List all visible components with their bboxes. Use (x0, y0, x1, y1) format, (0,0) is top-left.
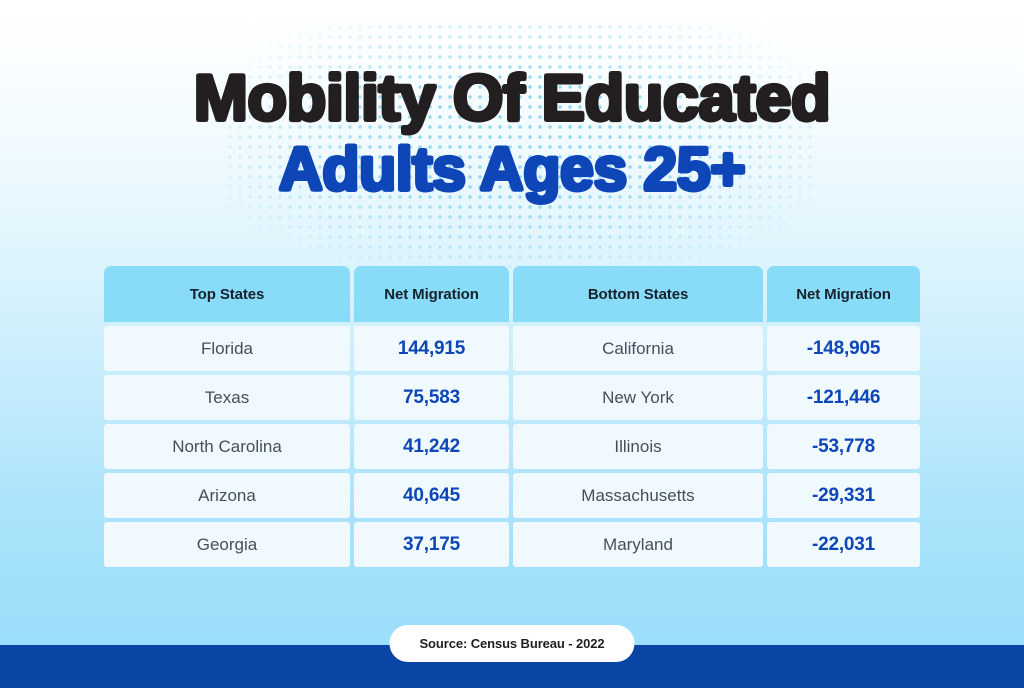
cell-bottom-value: -121,446 (767, 375, 920, 420)
cell-bottom-state: Massachusetts (513, 473, 763, 518)
table-row: Florida 144,915 California -148,905 (104, 326, 920, 371)
cell-top-value: 41,242 (354, 424, 509, 469)
cell-top-value: 40,645 (354, 473, 509, 518)
cell-top-state: Georgia (104, 522, 350, 567)
infographic-poster: Mobility Of Educated Adults Ages 25+ Top… (0, 0, 1024, 688)
cell-bottom-state: California (513, 326, 763, 371)
table-row: North Carolina 41,242 Illinois -53,778 (104, 424, 920, 469)
cell-top-value: 37,175 (354, 522, 509, 567)
table-header-row: Top States Net Migration Bottom States N… (104, 266, 920, 322)
cell-bottom-value: -53,778 (767, 424, 920, 469)
title-line-1: Mobility Of Educated (0, 66, 1024, 130)
page-title: Mobility Of Educated Adults Ages 25+ (0, 66, 1024, 199)
column-header-top-net-migration: Net Migration (354, 266, 509, 322)
column-header-bottom-net-migration: Net Migration (767, 266, 920, 322)
table-row: Arizona 40,645 Massachusetts -29,331 (104, 473, 920, 518)
table-row: Georgia 37,175 Maryland -22,031 (104, 522, 920, 567)
cell-top-state: Florida (104, 326, 350, 371)
cell-bottom-state: New York (513, 375, 763, 420)
cell-bottom-state: Illinois (513, 424, 763, 469)
cell-top-state: Texas (104, 375, 350, 420)
column-header-bottom-states: Bottom States (513, 266, 763, 322)
cell-top-state: Arizona (104, 473, 350, 518)
table-row: Texas 75,583 New York -121,446 (104, 375, 920, 420)
cell-bottom-value: -22,031 (767, 522, 920, 567)
cell-top-state: North Carolina (104, 424, 350, 469)
cell-bottom-state: Maryland (513, 522, 763, 567)
migration-table: Top States Net Migration Bottom States N… (104, 266, 920, 571)
cell-bottom-value: -29,331 (767, 473, 920, 518)
cell-top-value: 144,915 (354, 326, 509, 371)
cell-bottom-value: -148,905 (767, 326, 920, 371)
cell-top-value: 75,583 (354, 375, 509, 420)
source-badge: Source: Census Bureau - 2022 (389, 625, 634, 662)
title-line-2: Adults Ages 25+ (0, 140, 1024, 200)
column-header-top-states: Top States (104, 266, 350, 322)
